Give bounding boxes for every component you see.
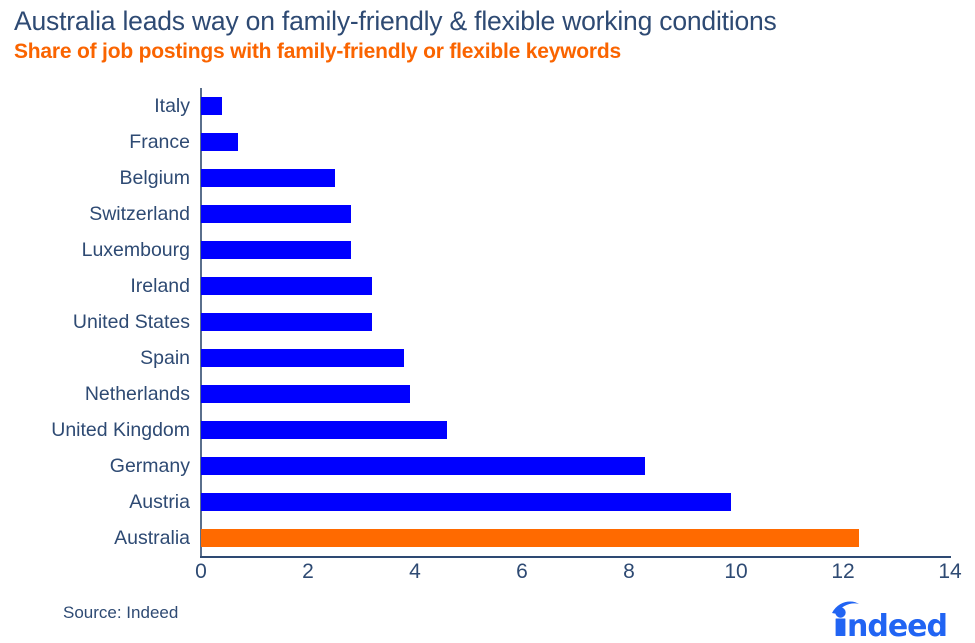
- x-tick-4: 4: [385, 560, 445, 584]
- x-tick-8: 8: [599, 560, 659, 584]
- y-label-belgium: Belgium: [0, 166, 190, 190]
- y-label-italy: Italy: [0, 94, 190, 118]
- x-tick-2: 2: [278, 560, 338, 584]
- y-label-united-states: United States: [0, 310, 190, 334]
- bar-italy: [201, 97, 222, 115]
- y-label-luxembourg: Luxembourg: [0, 238, 190, 262]
- source-note: Source: Indeed: [63, 603, 178, 623]
- y-axis-category-labels: ItalyFranceBelgiumSwitzerlandLuxembourgI…: [0, 88, 190, 556]
- y-label-spain: Spain: [0, 346, 190, 370]
- bar-australia: [201, 529, 859, 547]
- x-tick-10: 10: [706, 560, 766, 584]
- y-label-germany: Germany: [0, 454, 190, 478]
- x-tick-14: 14: [920, 560, 975, 584]
- bar-luxembourg: [201, 241, 351, 259]
- y-label-austria: Austria: [0, 490, 190, 514]
- y-label-france: France: [0, 130, 190, 154]
- bar-united-states: [201, 313, 372, 331]
- indeed-logo: ndeed: [828, 598, 960, 638]
- svg-text:ndeed: ndeed: [847, 609, 947, 638]
- bar-austria: [201, 493, 731, 511]
- bar-germany: [201, 457, 645, 475]
- y-label-united-kingdom: United Kingdom: [0, 418, 190, 442]
- x-axis-tick-labels: 02468101214: [0, 560, 975, 594]
- chart-subtitle: Share of job postings with family-friend…: [14, 40, 621, 64]
- bar-france: [201, 133, 238, 151]
- chart-title: Australia leads way on family-friendly &…: [14, 6, 777, 37]
- bar-netherlands: [201, 385, 410, 403]
- plot-area: [201, 88, 950, 556]
- chart-page: Australia leads way on family-friendly &…: [0, 0, 975, 638]
- y-label-switzerland: Switzerland: [0, 202, 190, 226]
- x-axis-line: [200, 556, 951, 558]
- x-tick-0: 0: [171, 560, 231, 584]
- y-label-australia: Australia: [0, 526, 190, 550]
- bar-belgium: [201, 169, 335, 187]
- bar-ireland: [201, 277, 372, 295]
- bar-switzerland: [201, 205, 351, 223]
- x-tick-12: 12: [813, 560, 873, 584]
- x-tick-6: 6: [492, 560, 552, 584]
- y-label-ireland: Ireland: [0, 274, 190, 298]
- bar-united-kingdom: [201, 421, 447, 439]
- bar-spain: [201, 349, 404, 367]
- y-label-netherlands: Netherlands: [0, 382, 190, 406]
